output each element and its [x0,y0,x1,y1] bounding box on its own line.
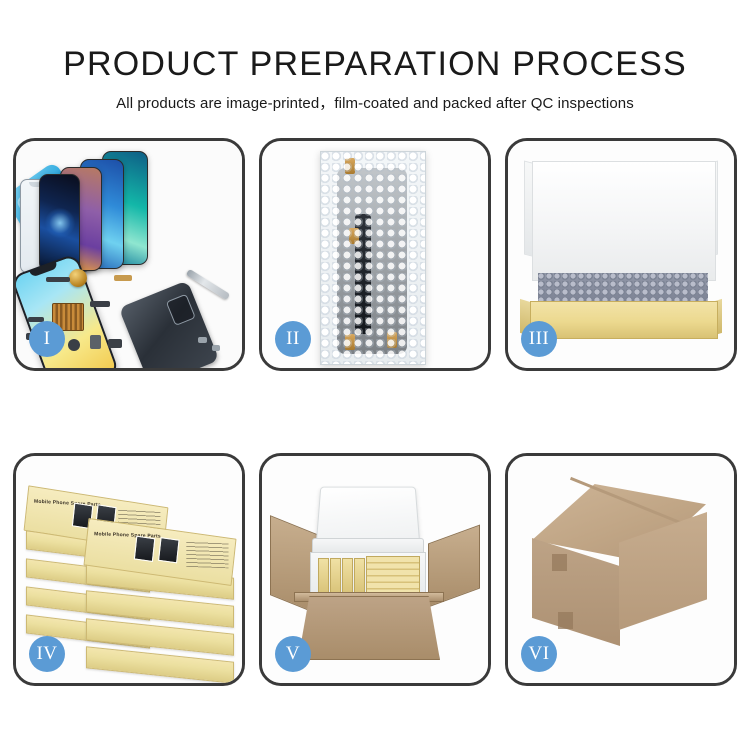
carton-front-face [298,596,440,660]
step-panel-2: II [259,138,491,371]
step-badge-1: I [29,321,65,357]
box-phone-image-front-2 [158,537,180,563]
small-part-5 [68,339,80,351]
page-subtitle: All products are image-printed，film-coat… [0,94,750,114]
step-badge-3: III [521,321,557,357]
step-panel-5: V [259,453,491,686]
step-badge-2: II [275,321,311,357]
small-part-3 [90,301,110,307]
tape-tab-bottom-right [387,332,397,348]
carton-tape-lower [558,612,573,629]
step-badge-6: VI [521,636,557,672]
tape-tab-middle [349,228,359,244]
inner-yellow-box-4 [354,558,365,596]
box-phone-image-front-1 [134,536,156,562]
vibration-motor-part [69,269,87,287]
small-part-7 [108,339,122,348]
bubble-wrap-contents [538,273,708,303]
step-panel-6: VI [505,453,737,686]
step-badge-4: IV [29,636,65,672]
bubble-wrap-bag [320,151,426,365]
small-part-1 [46,277,70,282]
screw-1 [198,337,207,343]
small-part-6 [90,335,101,349]
step-panel-1: I [13,138,245,371]
inner-yellow-box-stack [366,556,420,596]
step-badge-5: V [275,636,311,672]
tape-tab-bottom-left [345,334,355,350]
step-panel-4: Mobile Phone Spare Parts Mobile Phone Sp… [13,453,245,686]
inner-yellow-box-1 [318,558,329,596]
process-steps-grid: I II [13,138,737,686]
carton-tape-upper [552,554,567,571]
step-panel-3: III [505,138,737,371]
screw-2 [212,345,220,351]
yellow-box-tray [530,301,718,339]
header: PRODUCT PREPARATION PROCESS All products… [0,0,750,114]
phone-back-housing [119,280,220,368]
page-title: PRODUCT PREPARATION PROCESS [0,44,750,84]
small-part-2 [114,275,132,281]
box-spec-lines-front [186,541,228,568]
inner-yellow-box-2 [330,558,341,596]
inner-yellow-box-3 [342,558,353,596]
product-preparation-infographic: PRODUCT PREPARATION PROCESS All products… [0,0,750,750]
tape-tab-top [345,158,355,174]
white-box-lid [532,161,716,281]
wrapped-product [337,168,407,354]
